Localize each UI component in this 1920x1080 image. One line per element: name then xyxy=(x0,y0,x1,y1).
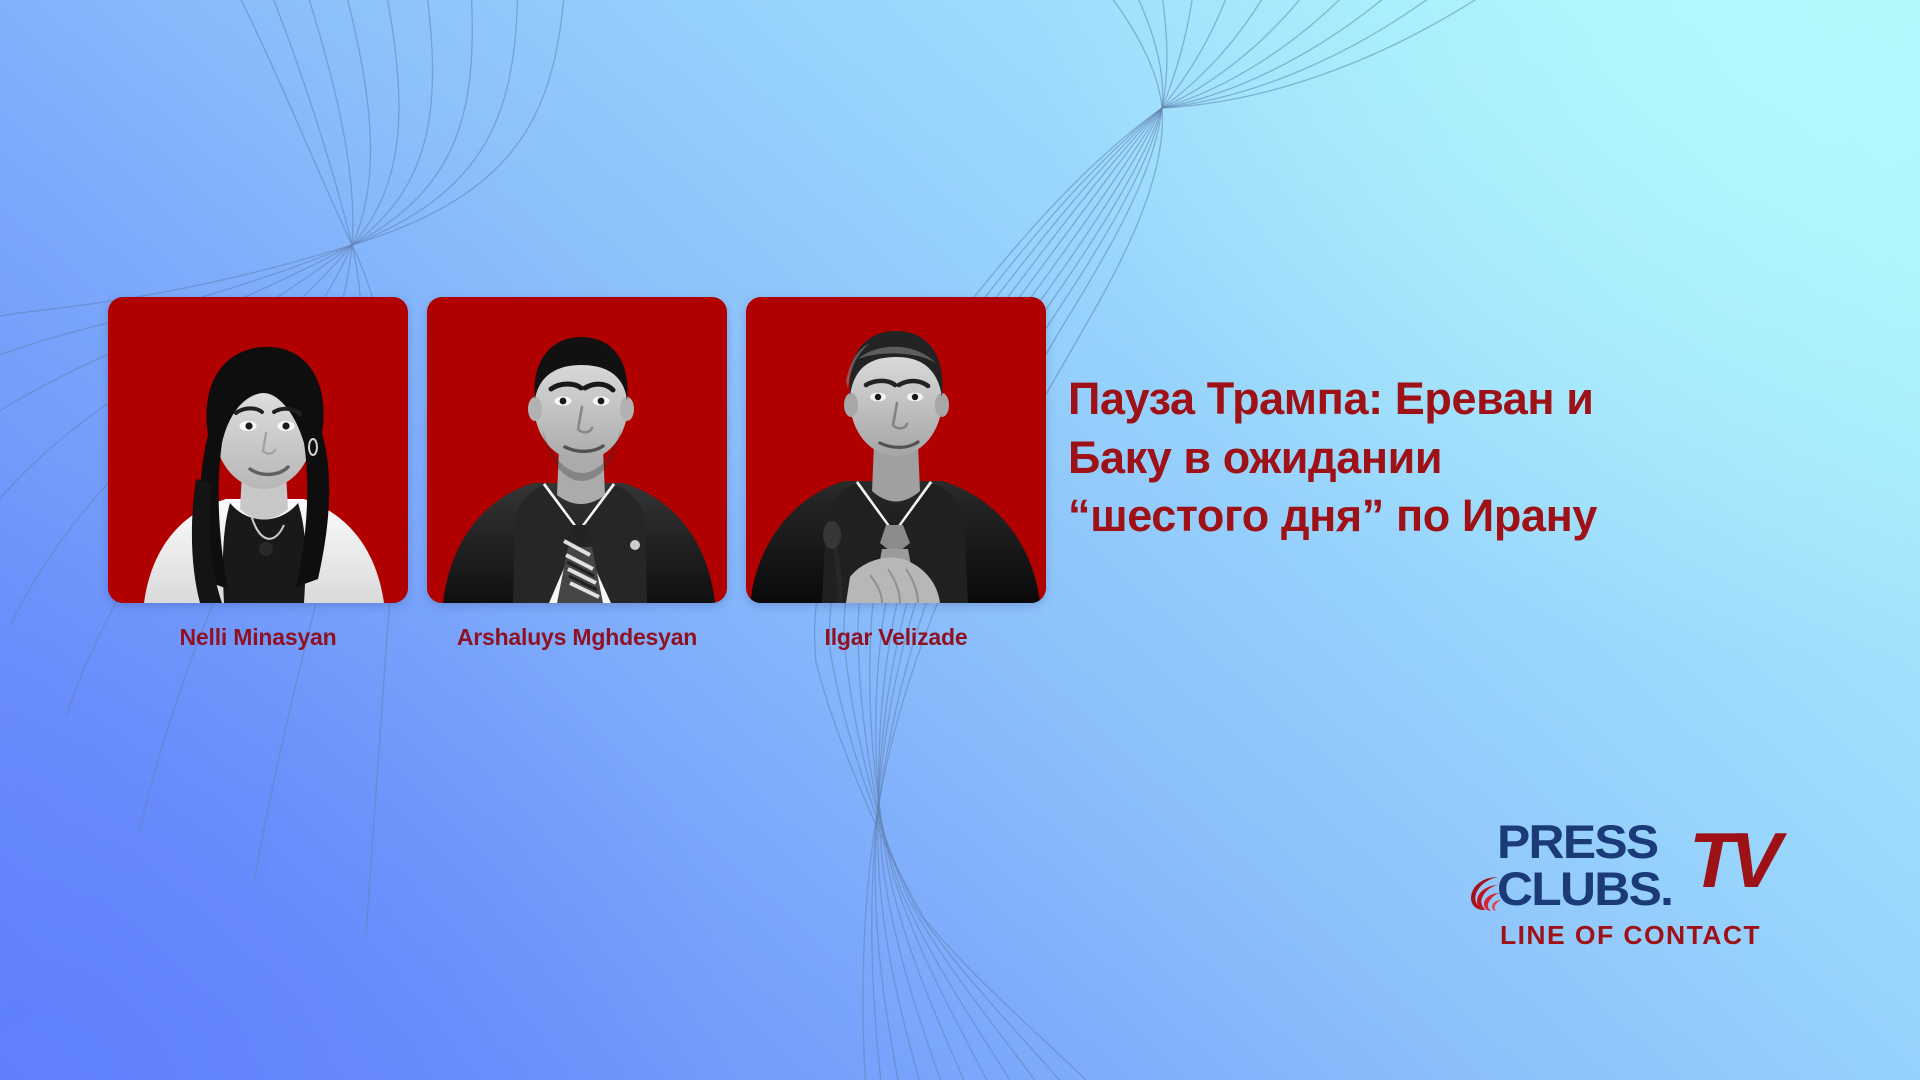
headline-line-3: “шестого дня” по Ирану xyxy=(1068,487,1878,546)
logo-wordmark: TV PRESS CLUBS. xyxy=(1468,818,1798,930)
tv-mark: TV xyxy=(1689,821,1775,899)
panelist-name: Ilgar Velizade xyxy=(825,624,968,651)
portrait-image xyxy=(108,297,408,603)
logo-word-press: PRESS xyxy=(1497,818,1657,865)
logo-tagline: LINE OF CONTACT xyxy=(1500,922,1761,948)
portrait-image xyxy=(427,297,727,603)
panelist-photo xyxy=(108,297,408,603)
logo-word-clubs: CLUBS. xyxy=(1497,865,1672,912)
press-clubs-tv-logo[interactable]: TV PRESS CLUBS. LINE OF CONTACT xyxy=(1468,818,1798,968)
broadcast-title-card: Nelli Minasyan xyxy=(0,0,1920,1080)
panelist-cards: Nelli Minasyan xyxy=(108,297,1046,651)
panelist-name: Nelli Minasyan xyxy=(180,624,337,651)
swirl-icon xyxy=(1468,872,1510,914)
headline-line-1: Пауза Трампа: Ереван и xyxy=(1068,370,1878,429)
headline: Пауза Трампа: Ереван и Баку в ожидании “… xyxy=(1068,370,1878,546)
panelist-photo xyxy=(746,297,1046,603)
panelist-card: Arshaluys Mghdesyan xyxy=(427,297,727,651)
panelist-name: Arshaluys Mghdesyan xyxy=(457,624,697,651)
panelist-card: Ilgar Velizade xyxy=(746,297,1046,651)
headline-line-2: Баку в ожидании xyxy=(1068,429,1878,488)
panelist-photo xyxy=(427,297,727,603)
panelist-card: Nelli Minasyan xyxy=(108,297,408,651)
portrait-image xyxy=(746,297,1046,603)
